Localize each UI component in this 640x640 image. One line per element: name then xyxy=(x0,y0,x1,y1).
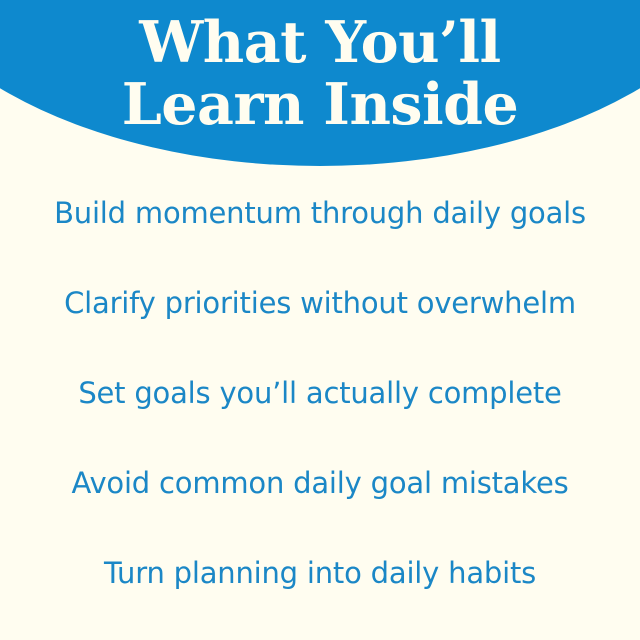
benefits-list: Build momentum through daily goals Clari… xyxy=(0,172,640,640)
header-banner xyxy=(0,0,640,172)
benefit-item: Build momentum through daily goals xyxy=(0,199,640,228)
banner-curved-shape xyxy=(0,0,640,166)
benefit-item: Clarify priorities without overwhelm xyxy=(0,289,640,318)
benefit-item: Turn planning into daily habits xyxy=(0,559,640,588)
benefit-item: Avoid common daily goal mistakes xyxy=(0,469,640,498)
poster-canvas: What You’ll Learn Inside Build momentum … xyxy=(0,0,640,640)
benefit-item: Set goals you’ll actually complete xyxy=(0,379,640,408)
